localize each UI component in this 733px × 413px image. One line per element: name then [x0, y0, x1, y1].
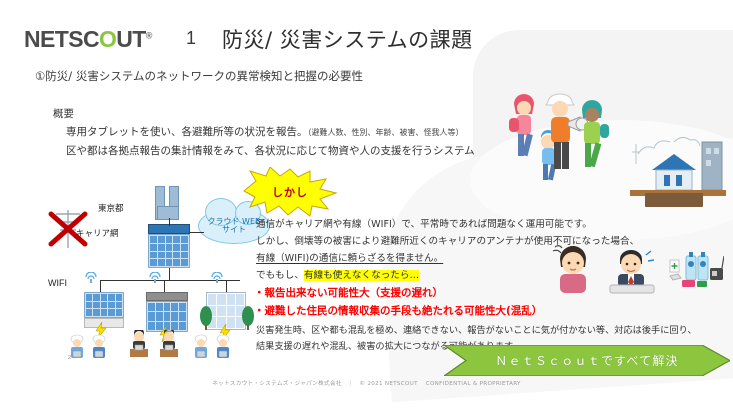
page-subtitle: ①防災/ 災害システムのネットワークの異常検知と把握の必要性 [35, 68, 363, 84]
solution-arrow-banner: ＮｅｔＳｃｏｕｔですべて解決 [444, 345, 730, 376]
logo-trademark-icon: ® [146, 30, 152, 40]
body-line-3-underlined: 有線（WIFI)の通信に頼らざるを得ません。 [256, 250, 443, 264]
risk-bullet-2: ・避難した住民の情報収集の手段も絶たれる可能性大(混乱） [254, 303, 542, 318]
however-callout-text: しかし [236, 167, 344, 217]
footer-copyright: ネットスカウト・システムズ・ジャパン株式会社 ｜ © 2021 NETSCOUT… [0, 379, 733, 387]
logo-text-part2: UT [116, 26, 145, 52]
logo-text-o-green: O [99, 26, 116, 52]
worker-figure [214, 334, 232, 360]
body-line-1: 通信がキャリア網や有線（WIFI）で、平常時であれば問題なく運用可能です。 [256, 216, 592, 230]
solution-arrow-text: ＮｅｔＳｃｏｕｔですべて解決 [444, 345, 730, 376]
worker-figure [192, 334, 210, 360]
label-cloud-website: クラウド WEBサイト [206, 218, 262, 235]
overview-line-1: 専用タブレットを使い、各避難所等の状況を報告。（避難人数、性別、年齢、被害、怪我… [66, 124, 464, 139]
link-center-down [169, 268, 170, 280]
label-tokyo: 東京都 [98, 202, 124, 214]
overview-line-1-main: 専用タブレットを使い、各避難所等の状況を報告。 [66, 126, 308, 138]
netscout-logo: NETSCOUT® [24, 26, 152, 53]
risk-bullet-1: ・報告出来ない可能性大（支援の遅れ） [254, 285, 443, 300]
worker-figure [90, 334, 108, 360]
wifi-icon-3 [210, 272, 224, 283]
frustrated-man-at-desk-illustration [606, 247, 658, 295]
worried-woman-illustration [552, 243, 594, 293]
slide-number: 1 [186, 28, 196, 49]
page-title: 防災/ 災害システムの課題 [222, 24, 473, 54]
closing-line-1: 災害発生時、区や都も混乱を極め、連絡できない、報告がないことに気が付かない等、対… [256, 322, 697, 336]
label-carrier-network: キャリア網 [76, 227, 119, 239]
body-line-4-highlighted: 有線も使えなくなったら… [304, 270, 419, 281]
evacuating-people-illustration [500, 82, 625, 187]
link-center-to-cloud [190, 232, 204, 233]
government-building-icon [148, 224, 190, 268]
wifi-icon-1 [84, 272, 98, 283]
staff-at-desk-figure [158, 330, 180, 360]
body-line-4-prefix: でももし、 [256, 270, 304, 281]
emergency-supplies-illustration [668, 250, 724, 290]
overview-label: 概要 [53, 106, 74, 121]
wifi-icon-2 [148, 272, 162, 283]
label-wifi: WIFI [48, 278, 67, 288]
overview-line-2: 区や都は各拠点報告の集計情報をみて、各状況に応じて物資や人の支援を行うシステム [66, 143, 475, 158]
page-number: 2 [68, 355, 71, 361]
tree-icon-left [200, 306, 212, 330]
damaged-house-sketch [630, 130, 726, 196]
slide-canvas: NETSCOUT® 1 防災/ 災害システムの課題 ①防災/ 災害システムのネッ… [0, 0, 733, 413]
logo-text-part1: NETSC [24, 26, 99, 52]
ground-strip-decoration [645, 193, 703, 207]
tree-icon-right [242, 306, 254, 330]
however-callout: しかし [236, 167, 344, 217]
tokyo-metropolitan-building-icon [155, 186, 181, 220]
link-tower-to-center [169, 218, 170, 226]
body-line-4: でももし、有線も使えなくなったら… [256, 267, 419, 281]
overview-line-1-note: （避難人数、性別、年齢、被害、怪我人等） [308, 128, 464, 137]
staff-at-desk-figure [128, 330, 150, 360]
